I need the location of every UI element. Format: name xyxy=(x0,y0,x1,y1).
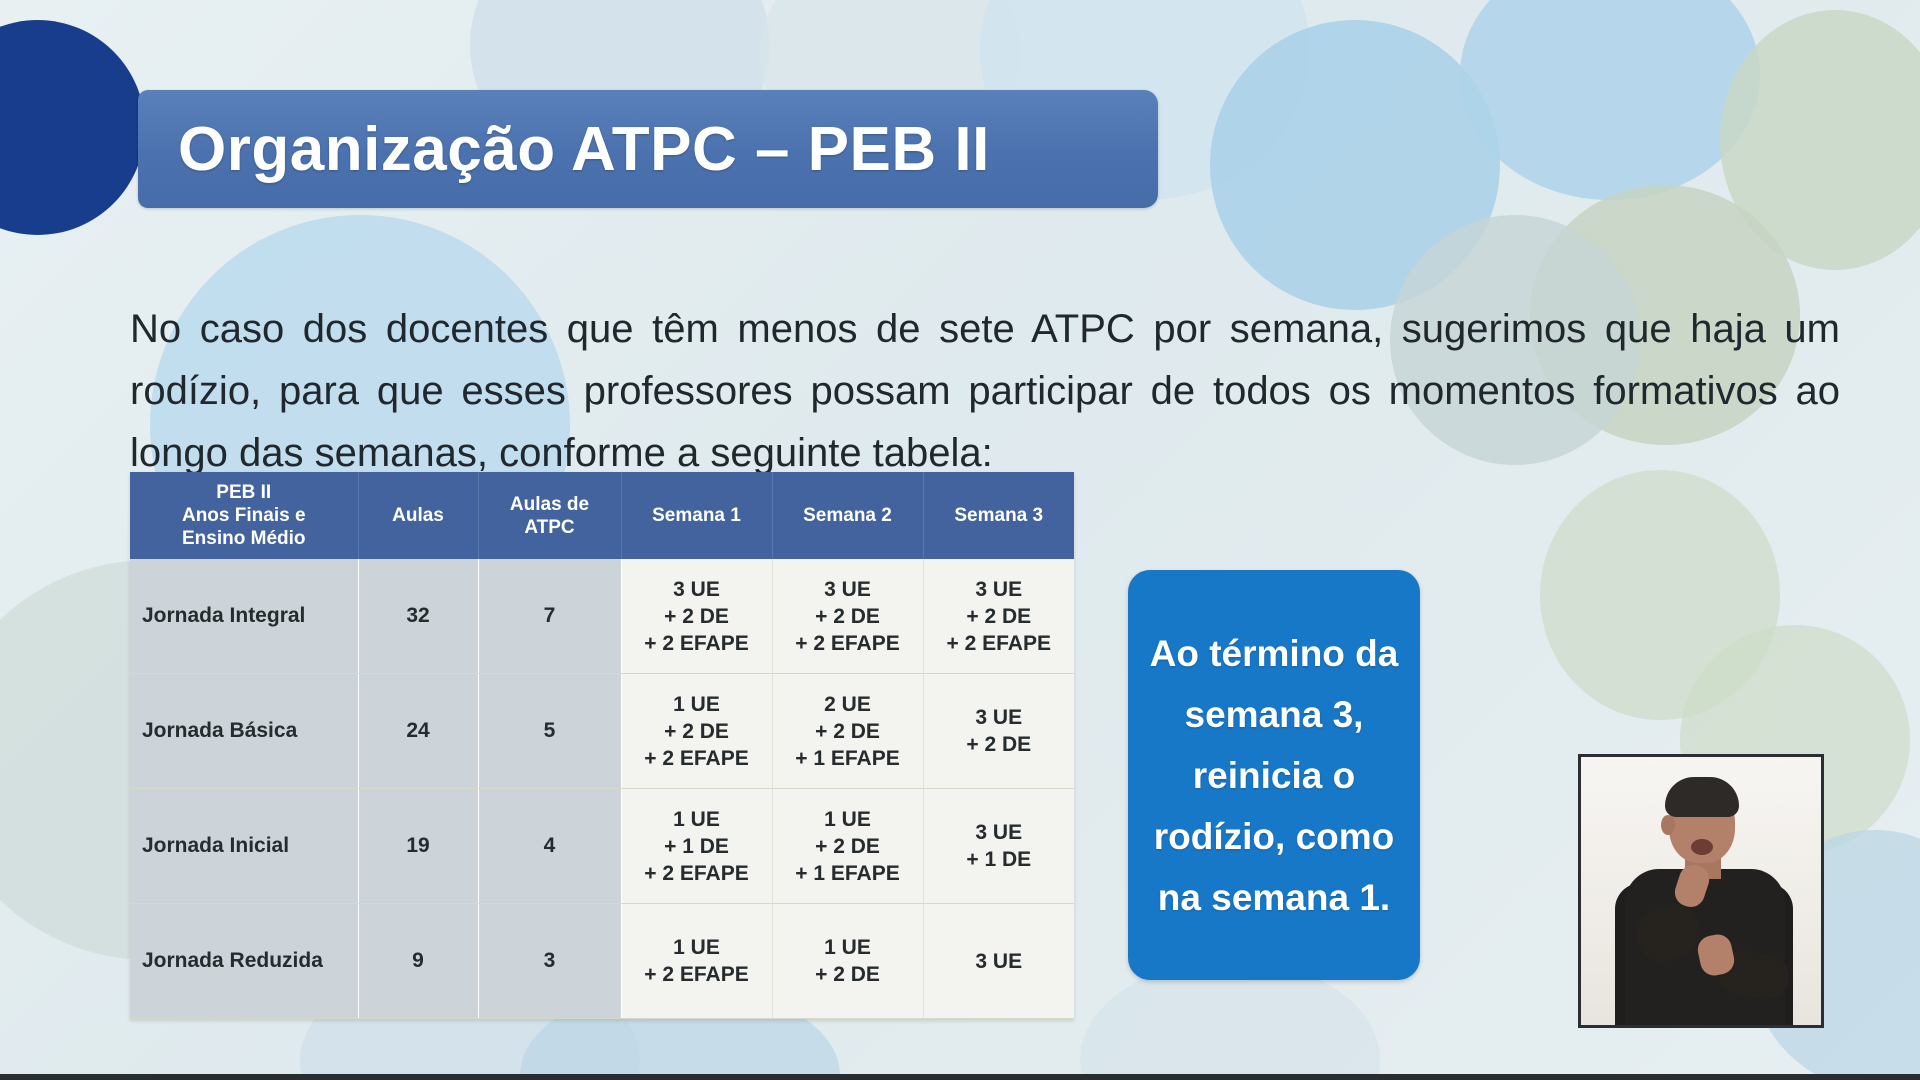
slide-canvas: Organização ATPC – PEB II No caso dos do… xyxy=(0,0,1920,1080)
cell-aulas: 32 xyxy=(358,559,478,674)
cell-aulas: 9 xyxy=(358,904,478,1019)
cell-line: + 2 DE xyxy=(777,833,919,860)
cell-aulas: 19 xyxy=(358,789,478,904)
cell-line: + 1 EFAPE xyxy=(777,860,919,887)
cell-semana2: 2 UE+ 2 DE+ 1 EFAPE xyxy=(772,674,923,789)
cell-line: + 2 EFAPE xyxy=(626,630,768,657)
cell-line: + 1 DE xyxy=(626,833,768,860)
table-row: Jornada Reduzida931 UE+ 2 EFAPE1 UE+ 2 D… xyxy=(130,904,1074,1019)
cell-semana2: 3 UE+ 2 DE+ 2 EFAPE xyxy=(772,559,923,674)
interpreter-hair xyxy=(1665,777,1739,817)
background-blob-6 xyxy=(1460,0,1760,200)
cell-line: + 2 DE xyxy=(777,718,919,745)
cell-semana1: 1 UE+ 1 DE+ 2 EFAPE xyxy=(621,789,772,904)
header-line: Aulas xyxy=(363,504,474,527)
cell-semana1: 1 UE+ 2 EFAPE xyxy=(621,904,772,1019)
cell-aulas-atpc: 5 xyxy=(478,674,621,789)
cell-line: + 2 DE xyxy=(626,718,768,745)
cell-line: + 2 EFAPE xyxy=(777,630,919,657)
table-row: Jornada Inicial1941 UE+ 1 DE+ 2 EFAPE1 U… xyxy=(130,789,1074,904)
slide-title-bar: Organização ATPC – PEB II xyxy=(138,90,1158,208)
cell-semana1: 1 UE+ 2 DE+ 2 EFAPE xyxy=(621,674,772,789)
cell-jornada: Jornada Reduzida xyxy=(130,904,358,1019)
cell-line: 3 UE xyxy=(626,576,768,603)
cell-line: 3 UE xyxy=(928,704,1071,731)
cell-line: 2 UE xyxy=(777,691,919,718)
cell-line: + 2 EFAPE xyxy=(626,860,768,887)
cell-semana3: 3 UE xyxy=(923,904,1074,1019)
cell-line: 3 UE xyxy=(928,819,1071,846)
cell-line: 3 UE xyxy=(777,576,919,603)
header-line: ATPC xyxy=(483,516,617,539)
cell-aulas-atpc: 3 xyxy=(478,904,621,1019)
header-line: PEB II xyxy=(134,481,354,504)
cell-line: 1 UE xyxy=(777,934,919,961)
callout-box: Ao término da semana 3, reinicia o rodíz… xyxy=(1128,570,1420,980)
table-header-row: PEB IIAnos Finais eEnsino MédioAulasAula… xyxy=(130,472,1074,559)
cell-semana3: 3 UE+ 2 DE+ 2 EFAPE xyxy=(923,559,1074,674)
table-body: Jornada Integral3273 UE+ 2 DE+ 2 EFAPE3 … xyxy=(130,559,1074,1019)
cell-line: + 1 DE xyxy=(928,846,1071,873)
cell-line: + 2 EFAPE xyxy=(626,745,768,772)
cell-line: + 1 EFAPE xyxy=(777,745,919,772)
interpreter-mouth xyxy=(1691,839,1713,855)
cell-semana2: 1 UE+ 2 DE xyxy=(772,904,923,1019)
cell-line: 1 UE xyxy=(626,806,768,833)
table-header: PEB IIAnos Finais eEnsino MédioAulasAula… xyxy=(130,472,1074,559)
table-row: Jornada Integral3273 UE+ 2 DE+ 2 EFAPE3 … xyxy=(130,559,1074,674)
cell-line: + 2 EFAPE xyxy=(928,630,1071,657)
cell-aulas-atpc: 7 xyxy=(478,559,621,674)
header-line: Ensino Médio xyxy=(134,527,354,550)
cell-line: 1 UE xyxy=(626,934,768,961)
sign-language-interpreter-video[interactable] xyxy=(1578,754,1824,1028)
table-column-header-0: PEB IIAnos Finais eEnsino Médio xyxy=(130,472,358,559)
header-line: Semana 2 xyxy=(777,504,919,527)
table-column-header-3: Semana 1 xyxy=(621,472,772,559)
cell-line: + 2 DE xyxy=(777,961,919,988)
table-row: Jornada Básica2451 UE+ 2 DE+ 2 EFAPE2 UE… xyxy=(130,674,1074,789)
cell-semana3: 3 UE+ 1 DE xyxy=(923,789,1074,904)
cell-aulas-atpc: 4 xyxy=(478,789,621,904)
navy-circle-decoration xyxy=(0,20,145,235)
callout-text: Ao término da semana 3, reinicia o rodíz… xyxy=(1128,623,1420,928)
cell-line: + 2 DE xyxy=(928,603,1071,630)
header-line: Semana 3 xyxy=(928,504,1071,527)
cell-line: 1 UE xyxy=(777,806,919,833)
table-column-header-1: Aulas xyxy=(358,472,478,559)
cell-line: 3 UE xyxy=(928,948,1071,975)
header-line: Aulas de xyxy=(483,493,617,516)
table-column-header-5: Semana 3 xyxy=(923,472,1074,559)
header-line: Semana 1 xyxy=(626,504,768,527)
bottom-edge-bar xyxy=(0,1074,1920,1080)
cell-semana3: 3 UE+ 2 DE xyxy=(923,674,1074,789)
cell-line: 1 UE xyxy=(626,691,768,718)
cell-jornada: Jornada Inicial xyxy=(130,789,358,904)
cell-line: + 2 DE xyxy=(626,603,768,630)
cell-line: + 2 DE xyxy=(777,603,919,630)
atpc-organization-table: PEB IIAnos Finais eEnsino MédioAulasAula… xyxy=(130,472,1074,1019)
interpreter-ear xyxy=(1661,815,1675,835)
cell-jornada: Jornada Básica xyxy=(130,674,358,789)
table-column-header-4: Semana 2 xyxy=(772,472,923,559)
table-column-header-2: Aulas deATPC xyxy=(478,472,621,559)
cell-semana2: 1 UE+ 2 DE+ 1 EFAPE xyxy=(772,789,923,904)
cell-aulas: 24 xyxy=(358,674,478,789)
body-paragraph: No caso dos docentes que têm menos de se… xyxy=(130,298,1840,484)
cell-semana1: 3 UE+ 2 DE+ 2 EFAPE xyxy=(621,559,772,674)
cell-line: 3 UE xyxy=(928,576,1071,603)
cell-jornada: Jornada Integral xyxy=(130,559,358,674)
page-title: Organização ATPC – PEB II xyxy=(178,114,990,185)
cell-line: + 2 EFAPE xyxy=(626,961,768,988)
cell-line: + 2 DE xyxy=(928,731,1071,758)
header-line: Anos Finais e xyxy=(134,504,354,527)
